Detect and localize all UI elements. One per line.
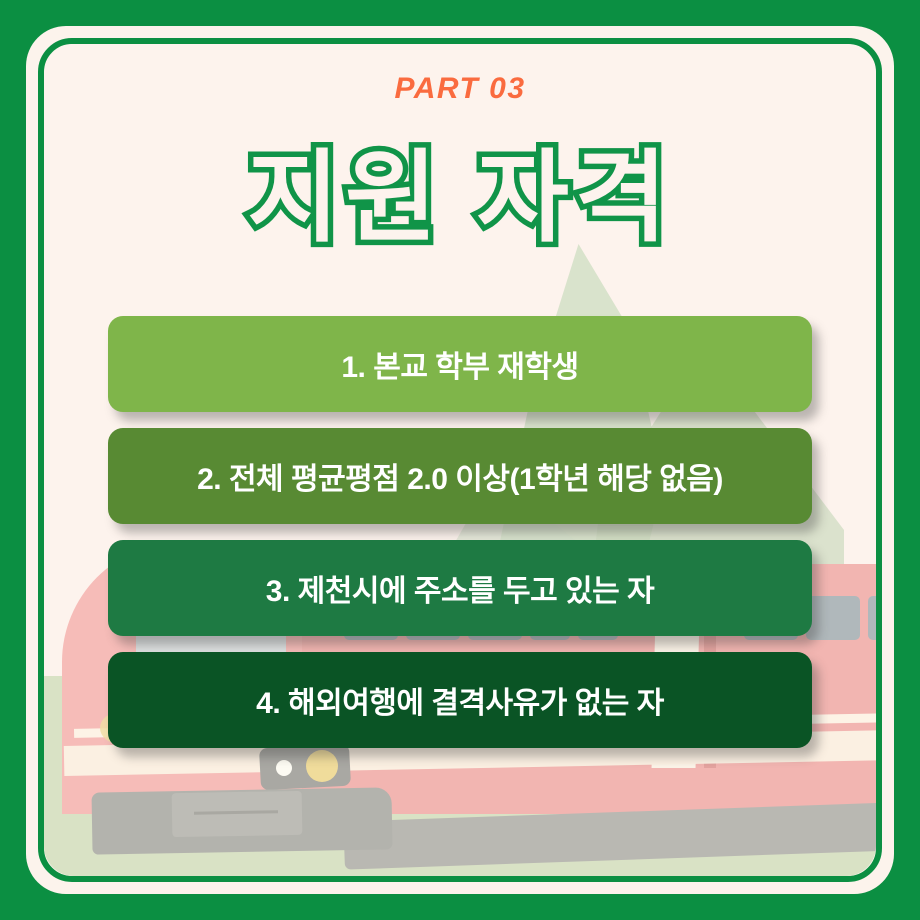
requirement-label: 1. 본교 학부 재학생 bbox=[341, 342, 578, 386]
poster-canvas: PART 03 지원 자격 1. 본교 학부 재학생 2. 전체 평균평점 2.… bbox=[0, 0, 920, 920]
page-title: 지원 자격 bbox=[44, 116, 876, 261]
requirements-list: 1. 본교 학부 재학생 2. 전체 평균평점 2.0 이상(1학년 해당 없음… bbox=[108, 316, 812, 764]
train-plate bbox=[172, 791, 303, 837]
train-window bbox=[868, 596, 876, 640]
part-label: PART 03 bbox=[44, 72, 876, 106]
poster-content-area: PART 03 지원 자격 1. 본교 학부 재학생 2. 전체 평균평점 2.… bbox=[44, 44, 876, 876]
requirement-bar-1[interactable]: 1. 본교 학부 재학생 bbox=[108, 316, 812, 412]
requirement-bar-2[interactable]: 2. 전체 평균평점 2.0 이상(1학년 해당 없음) bbox=[108, 428, 812, 524]
requirement-label: 3. 제천시에 주소를 두고 있는 자 bbox=[266, 566, 654, 610]
requirement-bar-4[interactable]: 4. 해외여행에 결격사유가 없는 자 bbox=[108, 652, 812, 748]
train-window bbox=[806, 596, 860, 640]
requirement-bar-3[interactable]: 3. 제천시에 주소를 두고 있는 자 bbox=[108, 540, 812, 636]
requirement-label: 2. 전체 평균평점 2.0 이상(1학년 해당 없음) bbox=[197, 454, 723, 498]
requirement-label: 4. 해외여행에 결격사유가 없는 자 bbox=[256, 678, 664, 722]
